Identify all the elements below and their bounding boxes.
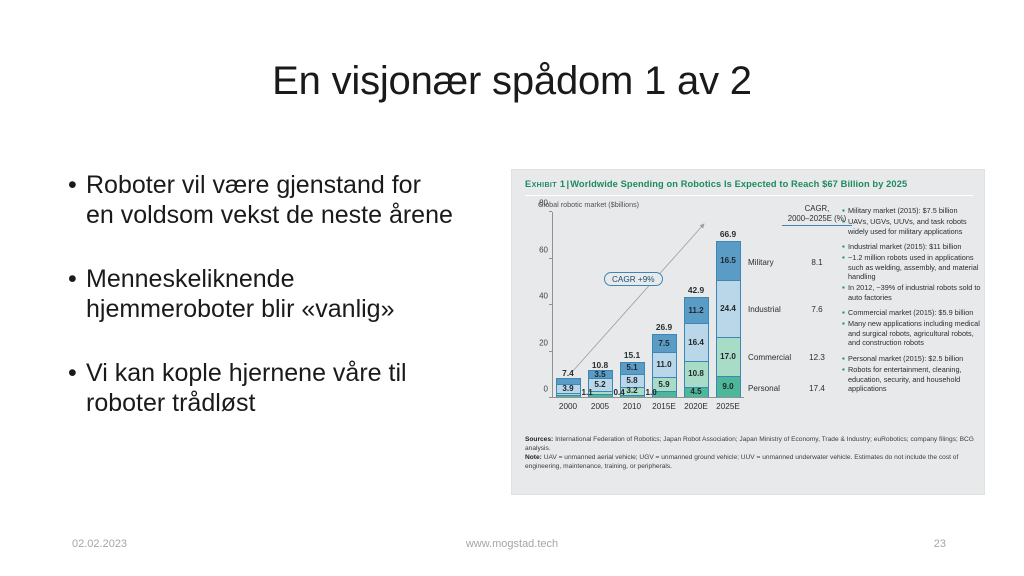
bar-total-label: 7.4 <box>562 368 574 378</box>
legend-label-industrial: Industrial <box>748 305 781 314</box>
note-label: Note: <box>525 454 542 461</box>
bar-total-label: 42.9 <box>688 285 704 295</box>
bar-segment-commercial: 10.8 <box>684 361 709 386</box>
plot-area: CAGR +9% 0204060803.97.420003.55.210.820… <box>552 212 744 398</box>
bar-segment-value: 10.8 <box>688 370 704 378</box>
note-text: Military market (2015): $7.5 billion <box>848 206 958 216</box>
bar-segment-personal: 4.5 <box>684 387 709 397</box>
note-group: ▪Industrial market (2015): $11 billion▪~… <box>842 242 982 302</box>
list-item: • Roboter vil være gjenstand for en vold… <box>68 170 508 230</box>
bar-segment-personal <box>556 395 581 397</box>
bar-segment-value: 5.9 <box>658 381 669 389</box>
bar-column: 16.524.417.09.066.9 <box>716 241 741 397</box>
legend-label-military: Military <box>748 258 774 267</box>
page-title: En visjonær spådom 1 av 2 <box>60 58 964 104</box>
note-text: Robots for entertainment, cleaning, educ… <box>848 365 982 394</box>
bar-segment-military: 5.1 <box>620 362 645 374</box>
y-axis-tick-mark <box>549 211 552 212</box>
bar-segment-value: 16.5 <box>720 257 736 265</box>
x-axis-tick: 2005 <box>591 402 609 411</box>
bar-segment-value: 11.0 <box>656 361 671 369</box>
sources-line: Sources: International Federation of Rob… <box>525 436 975 453</box>
note-item: ▪Many new applications including medical… <box>842 319 982 348</box>
note-item: ▪Commercial market (2015): $5.9 billion <box>842 308 982 318</box>
note-item: ▪Industrial market (2015): $11 billion <box>842 242 982 252</box>
footer-site: www.mogstad.tech <box>0 538 1024 550</box>
note-group: ▪Personal market (2015): $2.5 billion▪Ro… <box>842 354 982 394</box>
legend-label-personal: Personal <box>748 384 780 393</box>
bar-segment-value: 9.0 <box>722 383 733 391</box>
exhibit-headline: Exhibit 1|Worldwide Spending on Robotics… <box>525 179 907 189</box>
bullet-list: • Roboter vil være gjenstand for en vold… <box>68 170 508 452</box>
note-text: Industrial market (2015): $11 billion <box>848 242 961 252</box>
note-text: Commercial market (2015): $5.9 billion <box>848 308 973 318</box>
y-axis-tick-mark <box>549 397 552 398</box>
bar-segment-industrial: 3.9 <box>556 384 581 393</box>
bar-total-label: 10.8 <box>592 360 608 370</box>
bullet-text: Menneskeliknende hjemmeroboter blir «van… <box>86 264 394 324</box>
y-axis-tick-mark <box>549 304 552 305</box>
bar-segment-military: 7.5 <box>652 334 677 351</box>
note-item: ▪In 2012, ~39% of industrial robots sold… <box>842 283 982 302</box>
note-text: Personal market (2015): $2.5 billion <box>848 354 963 364</box>
note-group: ▪Commercial market (2015): $5.9 billion▪… <box>842 308 982 348</box>
exhibit-title-text: Worldwide Spending on Robotics Is Expect… <box>570 179 907 189</box>
bar-segment-value: 3.9 <box>562 385 573 393</box>
bar-total-label: 26.9 <box>656 322 672 332</box>
bar-segment-value: 7.5 <box>658 340 669 348</box>
note-text: In 2012, ~39% of industrial robots sold … <box>848 283 982 302</box>
note-item: ▪Military market (2015): $7.5 billion <box>842 206 982 216</box>
bar-total-label: 15.1 <box>624 350 640 360</box>
sources-label: Sources: <box>525 436 553 443</box>
exhibit-divider <box>525 195 973 196</box>
exhibit-notes: ▪Military market (2015): $7.5 billion▪UA… <box>842 206 982 400</box>
bar-segment-value: 16.4 <box>688 339 704 347</box>
note-text: Many new applications including medical … <box>848 319 982 348</box>
exhibit-figure: Exhibit 1|Worldwide Spending on Robotics… <box>511 169 985 495</box>
note-item: ▪~1.2 million robots used in application… <box>842 253 982 282</box>
bar-segment-industrial: 16.4 <box>684 323 709 361</box>
list-item: • Menneskeliknende hjemmeroboter blir «v… <box>68 264 508 324</box>
bar-segment-value: 4.5 <box>690 388 701 396</box>
bar-segment-value: 11.2 <box>688 307 703 315</box>
bullet-icon: • <box>68 264 86 294</box>
footer-page-number: 23 <box>934 538 946 550</box>
bar-segment-commercial: 17.0 <box>716 337 741 377</box>
bar-total-label: 66.9 <box>720 229 736 239</box>
bar-external-value-label: 0.4 <box>614 388 625 397</box>
bar-column: 3.97.4 <box>556 378 581 397</box>
y-axis-tick-mark <box>549 258 552 259</box>
x-axis-tick: 2010 <box>623 402 641 411</box>
bar-segment-value: 5.1 <box>626 364 637 372</box>
note-text: ~1.2 million robots used in applications… <box>848 253 982 282</box>
exhibit-label: Exhibit 1 <box>525 179 566 189</box>
exhibit-sources: Sources: International Federation of Rob… <box>525 436 975 472</box>
slide: En visjonær spådom 1 av 2 • Roboter vil … <box>0 0 1024 576</box>
x-axis-tick: 2015E <box>652 402 676 411</box>
y-axis-tick: 20 <box>539 338 548 347</box>
x-axis-tick: 2020E <box>684 402 708 411</box>
bar-segment-industrial: 5.8 <box>620 374 645 387</box>
bar-segment-industrial: 24.4 <box>716 280 741 337</box>
bar-segment-personal: 9.0 <box>716 376 741 397</box>
list-item: • Vi kan kople hjernene våre til roboter… <box>68 358 508 418</box>
bar-segment-military: 11.2 <box>684 297 709 323</box>
y-axis-tick: 60 <box>539 245 548 254</box>
note-item: ▪Robots for entertainment, cleaning, edu… <box>842 365 982 394</box>
y-axis-caption: Global robotic market ($billions) <box>538 200 639 209</box>
y-axis-tick-mark <box>549 351 552 352</box>
bar-segment-value: 5.2 <box>594 381 605 389</box>
bar-external-value-label: 1.1 <box>582 388 593 397</box>
x-axis-tick: 2000 <box>559 402 577 411</box>
y-axis-tick: 80 <box>539 199 548 208</box>
slide-footer: 02.02.2023 www.mogstad.tech 23 <box>0 538 1024 554</box>
note-group: ▪Military market (2015): $7.5 billion▪UA… <box>842 206 982 236</box>
bullet-text: Vi kan kople hjernene våre til roboter t… <box>86 358 407 418</box>
bar-segment-value: 17.0 <box>720 353 736 361</box>
bar-segment-industrial: 11.0 <box>652 352 677 378</box>
note-text: UAVs, UGVs, UUVs, and task robots widely… <box>848 217 982 236</box>
x-axis-tick: 2025E <box>716 402 740 411</box>
bar-segment-military: 16.5 <box>716 241 741 279</box>
bullet-icon: • <box>68 170 86 200</box>
note-text: UAV = unmanned aerial vehicle; UGV = unm… <box>525 454 958 470</box>
bar-column: 11.216.410.84.542.9 <box>684 297 709 397</box>
note-item: ▪UAVs, UGVs, UUVs, and task robots widel… <box>842 217 982 236</box>
note-item: ▪Personal market (2015): $2.5 billion <box>842 354 982 364</box>
y-axis-tick: 40 <box>539 292 548 301</box>
bar-segment-value: 5.8 <box>626 377 637 385</box>
bullet-text: Roboter vil være gjenstand for en voldso… <box>86 170 453 230</box>
note-line: Note: UAV = unmanned aerial vehicle; UGV… <box>525 454 975 471</box>
bar-segment-military: 3.5 <box>588 370 613 378</box>
sources-text: International Federation of Robotics; Ja… <box>525 436 974 452</box>
y-axis-tick: 0 <box>544 385 548 394</box>
cagr-annotation: CAGR +9% <box>604 272 663 286</box>
bar-segment-value: 24.4 <box>720 305 736 313</box>
bar-external-value-label: 1.0 <box>646 388 657 397</box>
x-axis <box>552 397 744 398</box>
bullet-icon: • <box>68 358 86 388</box>
chart: Global robotic market ($billions) CAGR +… <box>526 200 776 430</box>
y-axis <box>552 212 553 398</box>
